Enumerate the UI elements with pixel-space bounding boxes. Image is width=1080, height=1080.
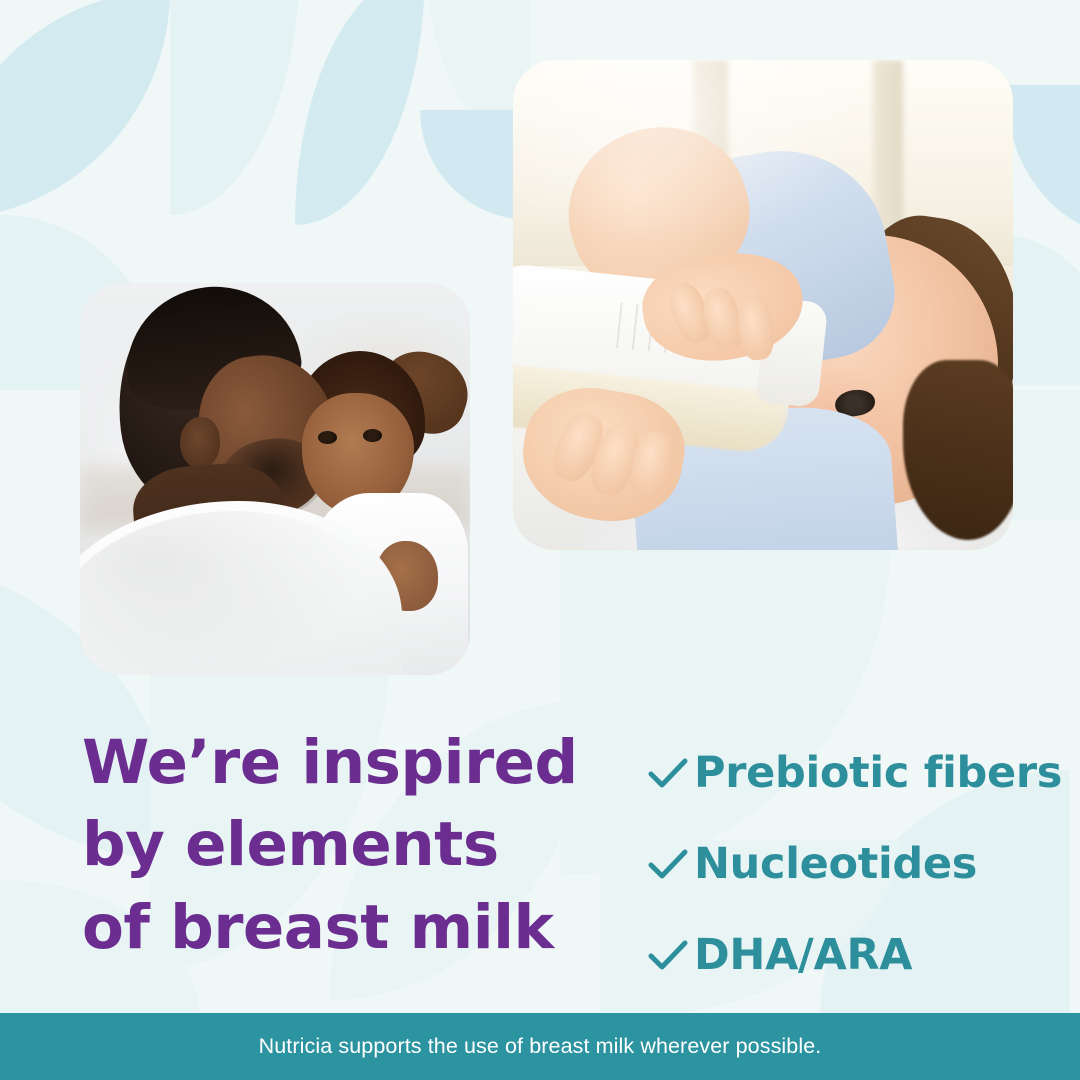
checklist-item: Prebiotic fibers — [648, 728, 1048, 819]
baby-eye-left — [318, 431, 337, 444]
headline: We’re inspired by elements of breast mil… — [82, 722, 622, 969]
checklist-item: Nucleotides — [648, 819, 1048, 910]
headline-line-2: by elements — [82, 804, 622, 886]
checklist-item-label: Nucleotides — [694, 843, 977, 886]
photo-bottle-content — [513, 60, 1013, 550]
leaf-shape — [1005, 390, 1080, 520]
checklist-item: DHA/ARA — [648, 910, 1048, 1001]
baby-eye-right — [363, 429, 382, 442]
footer-disclaimer-text: Nutricia supports the use of breast milk… — [259, 1034, 822, 1059]
dad-ear — [180, 417, 220, 469]
leaf-shape — [170, 0, 300, 215]
advertisement-canvas: We’re inspired by elements of breast mil… — [0, 0, 1080, 1080]
photo-baby-with-bottle — [513, 60, 1013, 550]
footer-banner: Nutricia supports the use of breast milk… — [0, 1013, 1080, 1080]
headline-line-1: We’re inspired — [82, 722, 622, 804]
check-icon — [648, 940, 694, 972]
photo-dad-holding-baby — [80, 283, 470, 675]
checklist-item-label: Prebiotic fibers — [694, 752, 1062, 795]
photo-soft-light-glow — [513, 60, 1013, 550]
leaf-shape — [0, 0, 170, 220]
checklist-item-label: DHA/ARA — [694, 934, 912, 977]
photo-dad-content — [80, 283, 470, 675]
check-icon — [648, 849, 694, 881]
leaf-shape — [295, 0, 425, 225]
leaf-shape — [1005, 85, 1080, 235]
check-icon — [648, 758, 694, 790]
ingredient-checklist: Prebiotic fibers Nucleotides DHA/ARA — [648, 728, 1048, 1001]
headline-line-3: of breast milk — [82, 887, 622, 969]
